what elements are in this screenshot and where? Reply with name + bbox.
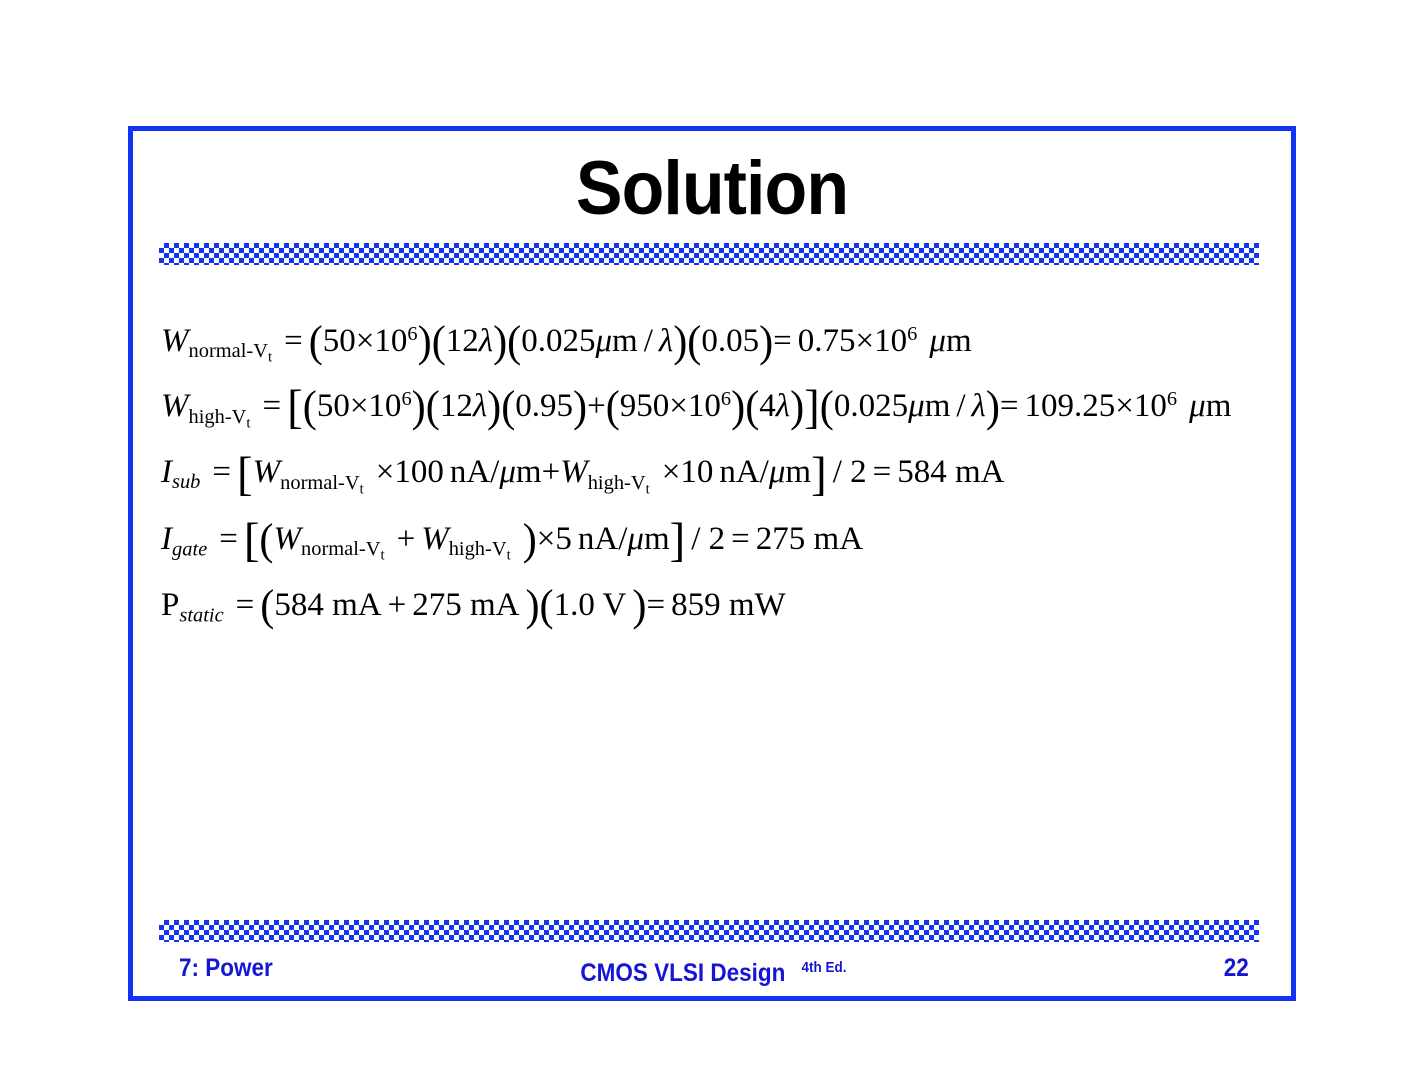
paren-close: )	[731, 372, 745, 441]
exponent-6: 6	[721, 388, 731, 410]
value-10925e6: 109.25×10	[1025, 388, 1167, 424]
exponent-6: 6	[907, 323, 917, 345]
paren-open: (	[507, 307, 521, 376]
exponent-6: 6	[407, 323, 417, 345]
bracket-close: ]	[670, 507, 686, 573]
subscript-normal-v: normal-Vt	[280, 472, 364, 494]
subscript-high-v: high-Vt	[449, 538, 511, 560]
equation-list: Wnormal-Vt=(50×106)(12λ)(0.025μm/λ)(0.05…	[161, 309, 1281, 638]
paren-close: )	[487, 372, 501, 441]
value-0025: 0.025	[834, 388, 908, 424]
paren-open: (	[260, 571, 274, 640]
value-075e6: 0.75×10	[798, 323, 907, 359]
paren-close: )	[673, 307, 687, 376]
footer-edition: 4th Ed.	[802, 949, 847, 987]
symbol-W: W	[161, 388, 189, 424]
symbol-mu: μ	[627, 521, 644, 557]
value-095: 0.95	[515, 388, 573, 424]
paren-close: )	[493, 307, 507, 376]
unit-m: m	[785, 454, 811, 490]
subscript-gate: gate	[172, 538, 207, 560]
symbol-lambda: λ	[659, 323, 673, 359]
paren-open: (	[820, 372, 834, 441]
bracket-open: [	[237, 441, 253, 507]
exponent-6: 6	[1167, 388, 1177, 410]
operator-slash: /	[956, 388, 965, 424]
operator-equals: =	[1000, 388, 1019, 424]
operator-equals: =	[284, 323, 303, 359]
bracket-open: [	[244, 507, 260, 573]
symbol-mu: μ	[769, 454, 786, 490]
value-005: 0.05	[701, 323, 759, 359]
unit-m: m	[644, 521, 670, 557]
operator-times: ×	[376, 454, 395, 490]
unit-nA-per: nA/	[450, 454, 500, 490]
paren-open: (	[501, 372, 515, 441]
operator-divide-2: / 2	[833, 454, 867, 490]
equation-i-sub: Isub=[Wnormal-Vt×100nA/μm+Whigh-Vt×10nA/…	[161, 440, 1281, 506]
footer-book-title: CMOS VLSI Design4th Ed.	[159, 949, 1259, 992]
value-4: 4	[759, 388, 776, 424]
operator-plus: +	[542, 454, 561, 490]
page-title: Solution	[179, 147, 1244, 231]
slide-footer: 7: Power CMOS VLSI Design4th Ed. 22	[159, 949, 1259, 987]
symbol-I: I	[161, 454, 172, 490]
bracket-open: [	[287, 375, 303, 441]
value-275mA: 275 mA	[412, 587, 519, 623]
unit-m: m	[516, 454, 542, 490]
value-50e6: 50×10	[323, 323, 408, 359]
symbol-lambda: λ	[972, 388, 986, 424]
value-12: 12	[446, 323, 479, 359]
symbol-P: P	[161, 587, 179, 623]
operator-plus: +	[587, 388, 606, 424]
subscript-normal-v: normal-Vt	[189, 340, 273, 362]
symbol-mu: μ	[908, 388, 925, 424]
paren-open: (	[259, 505, 273, 574]
value-100: 100	[394, 454, 444, 490]
symbol-W: W	[274, 521, 302, 557]
value-5: 5	[555, 521, 572, 557]
operator-equals: =	[873, 454, 892, 490]
paren-close: )	[632, 571, 646, 640]
paren-close: )	[986, 372, 1000, 441]
subscript-t: t	[507, 548, 511, 564]
paren-open: (	[426, 372, 440, 441]
footer-page-number: 22	[1224, 949, 1249, 987]
unit-m: m	[612, 323, 638, 359]
operator-equals: =	[773, 323, 792, 359]
value-10V: 1.0 V	[554, 587, 627, 623]
symbol-W: W	[421, 521, 449, 557]
paren-open: (	[540, 571, 554, 640]
equation-i-gate: Igate=[(Wnormal-Vt+Whigh-Vt)×5nA/μm]/ 2=…	[161, 507, 1281, 573]
symbol-mu: μ	[595, 323, 612, 359]
symbol-mu: μ	[499, 454, 516, 490]
unit-m: m	[946, 323, 972, 359]
subscript-t: t	[360, 481, 364, 497]
operator-plus: +	[397, 521, 416, 557]
subscript-normal-v: normal-Vt	[301, 538, 385, 560]
symbol-W: W	[161, 323, 189, 359]
paren-open: (	[309, 307, 323, 376]
subscript-t: t	[646, 481, 650, 497]
equation-w-normal-vt: Wnormal-Vt=(50×106)(12λ)(0.025μm/λ)(0.05…	[161, 309, 1281, 374]
operator-times: ×	[537, 521, 556, 557]
symbol-mu: μ	[929, 323, 946, 359]
equation-w-high-vt: Whigh-Vt=[(50×106)(12λ)(0.95)+(950×106)(…	[161, 374, 1281, 440]
paren-open: (	[303, 372, 317, 441]
symbol-W: W	[560, 454, 588, 490]
value-0025: 0.025	[521, 323, 595, 359]
unit-m: m	[925, 388, 951, 424]
paren-close: )	[412, 372, 426, 441]
operator-equals: =	[212, 454, 231, 490]
operator-divide-2: / 2	[691, 521, 725, 557]
result-584mA: 584 mA	[897, 454, 1004, 490]
bracket-close: ]	[804, 375, 820, 441]
paren-close: )	[790, 372, 804, 441]
value-950e6: 950×10	[620, 388, 721, 424]
unit-nA-per: nA/	[578, 521, 628, 557]
symbol-lambda: λ	[479, 323, 493, 359]
paren-close: )	[525, 571, 539, 640]
paren-open: (	[432, 307, 446, 376]
unit-nA-per: nA/	[719, 454, 769, 490]
subscript-t: t	[380, 548, 384, 564]
unit-m: m	[1206, 388, 1232, 424]
symbol-W: W	[253, 454, 281, 490]
paren-open: (	[745, 372, 759, 441]
result-275mA: 275 mA	[756, 521, 863, 557]
operator-plus: +	[388, 587, 407, 623]
footer-book-name: CMOS VLSI Design	[580, 954, 785, 992]
paren-close: )	[759, 307, 773, 376]
paren-close: )	[523, 505, 537, 574]
operator-equals: =	[219, 521, 238, 557]
slide-frame: Solution Wnormal-Vt=(50×106)(12λ)(0.025μ…	[128, 126, 1296, 1001]
symbol-lambda: λ	[473, 388, 487, 424]
subscript-high-v: high-Vt	[189, 406, 251, 428]
paren-open: (	[687, 307, 701, 376]
operator-slash: /	[644, 323, 653, 359]
subscript-sub: sub	[172, 472, 200, 494]
value-584mA: 584 mA	[274, 587, 381, 623]
paren-close: )	[418, 307, 432, 376]
subscript-static: static	[179, 604, 223, 626]
operator-equals: =	[731, 521, 750, 557]
symbol-lambda: λ	[776, 388, 790, 424]
subscript-t: t	[246, 415, 250, 431]
operator-times: ×	[662, 454, 681, 490]
value-12: 12	[440, 388, 473, 424]
subscript-t: t	[268, 350, 272, 366]
value-10: 10	[680, 454, 713, 490]
checkerboard-divider-top	[159, 243, 1259, 265]
symbol-I: I	[161, 521, 172, 557]
exponent-6: 6	[401, 388, 411, 410]
equation-p-static: Pstatic=(584 mA+275 mA)(1.0 V)=859 mW	[161, 573, 1281, 638]
paren-close: )	[573, 372, 587, 441]
operator-equals: =	[646, 587, 665, 623]
subscript-high-v: high-Vt	[588, 472, 650, 494]
bracket-close: ]	[811, 441, 827, 507]
operator-equals: =	[263, 388, 282, 424]
paren-open: (	[606, 372, 620, 441]
operator-equals: =	[236, 587, 255, 623]
checkerboard-divider-bottom	[159, 920, 1259, 942]
value-50e6: 50×10	[317, 388, 402, 424]
result-859mW: 859 mW	[671, 587, 786, 623]
symbol-mu: μ	[1189, 388, 1206, 424]
